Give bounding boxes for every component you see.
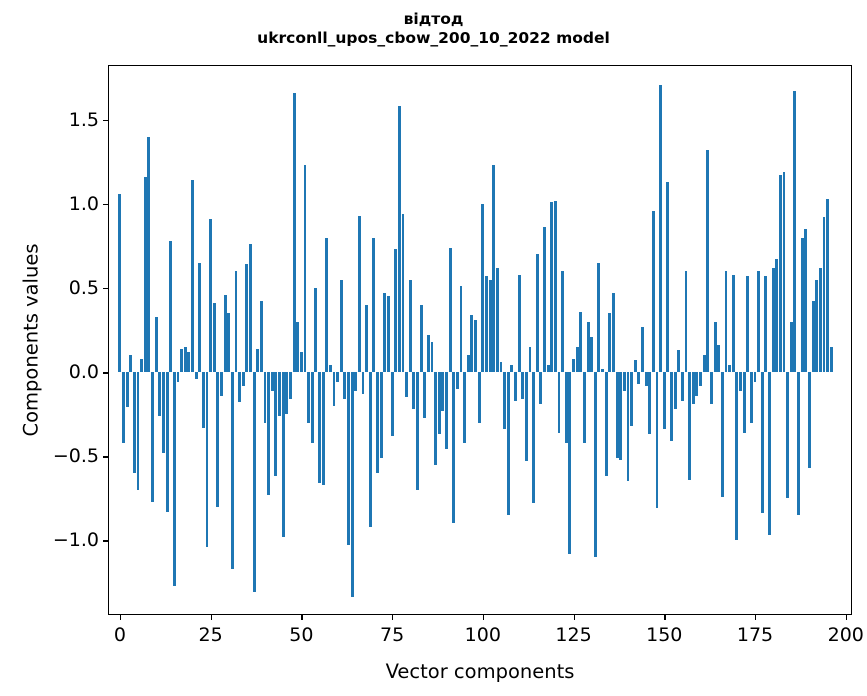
x-tick-mark (664, 614, 665, 620)
bar (514, 372, 517, 401)
bar (597, 263, 600, 372)
y-tick-label: −1.0 (53, 529, 99, 551)
bar (594, 372, 597, 557)
bar (721, 372, 724, 496)
bar (391, 372, 394, 436)
bar (525, 372, 528, 461)
bar (583, 372, 586, 443)
y-tick-mark (103, 204, 109, 205)
bar (793, 91, 796, 372)
bar (267, 372, 270, 495)
bar (797, 372, 800, 515)
bar (663, 372, 666, 429)
bar (670, 372, 673, 441)
bar-series (109, 66, 851, 614)
bar (278, 372, 281, 416)
bar (249, 244, 252, 372)
bar (786, 372, 789, 498)
x-tick-mark (846, 614, 847, 620)
bar (518, 275, 521, 373)
bar (398, 106, 401, 372)
bar (304, 165, 307, 372)
bar (826, 199, 829, 372)
bar (783, 172, 786, 372)
bar (202, 372, 205, 428)
bar (790, 322, 793, 372)
y-tick-label: 0.5 (69, 277, 99, 299)
bar (133, 372, 136, 473)
y-axis-label-container: Components values (18, 65, 44, 615)
bar (227, 313, 230, 372)
bar (184, 347, 187, 372)
x-tick-mark (483, 614, 484, 620)
bar (652, 211, 655, 372)
figure-canvas: відтод ukrconll_upos_cbow_200_10_2022 mo… (0, 0, 867, 696)
bar (177, 372, 180, 382)
bar (659, 85, 662, 373)
bar (764, 276, 767, 372)
bar (677, 350, 680, 372)
bar (503, 372, 506, 429)
bar (253, 372, 256, 592)
bar (285, 372, 288, 414)
bar (743, 372, 746, 433)
bar (354, 372, 357, 391)
bar (242, 372, 245, 385)
bar (420, 305, 423, 372)
bar (543, 227, 546, 372)
x-tick-mark (120, 614, 121, 620)
bar (365, 305, 368, 372)
bar (300, 352, 303, 372)
bar (692, 372, 695, 404)
bar (619, 372, 622, 459)
bar (198, 263, 201, 372)
bar (140, 359, 143, 372)
bar (260, 301, 263, 372)
chart-title-line1: відтод (0, 10, 867, 29)
bar (699, 372, 702, 385)
bar (441, 372, 444, 411)
bar (532, 372, 535, 503)
bar (155, 317, 158, 373)
bar (423, 372, 426, 417)
bar (216, 372, 219, 507)
y-tick-label: 0.0 (69, 361, 99, 383)
y-tick-label: −0.5 (53, 445, 99, 467)
bar (710, 372, 713, 404)
bar (754, 372, 757, 382)
bar (830, 347, 833, 372)
bar (587, 322, 590, 372)
bar (703, 355, 706, 372)
bar (470, 315, 473, 372)
bar (561, 271, 564, 372)
bar (220, 372, 223, 396)
bar (823, 217, 826, 372)
bar (387, 296, 390, 372)
bar (187, 352, 190, 372)
bar (452, 372, 455, 523)
bar (271, 372, 274, 391)
bar (804, 229, 807, 372)
x-tick-label: 50 (289, 624, 313, 646)
bar (801, 238, 804, 373)
bar (122, 372, 125, 443)
bar (529, 347, 532, 372)
bar (147, 137, 150, 372)
bar (739, 372, 742, 391)
bar (674, 372, 677, 409)
bar (166, 372, 169, 512)
bar (656, 372, 659, 508)
bar (717, 345, 720, 372)
bar (180, 349, 183, 373)
bar (641, 327, 644, 372)
bar (231, 372, 234, 569)
x-tick-mark (211, 614, 212, 620)
bar (474, 320, 477, 372)
bar (289, 372, 292, 399)
bar (362, 372, 365, 394)
bar (238, 372, 241, 402)
bar (340, 280, 343, 373)
bar (169, 241, 172, 372)
x-tick-label: 175 (737, 624, 773, 646)
bar (456, 372, 459, 389)
bar (256, 349, 259, 373)
bar (274, 372, 277, 476)
bar (735, 372, 738, 540)
bar (206, 372, 209, 547)
bar (547, 365, 550, 372)
bar (608, 313, 611, 372)
bar (376, 372, 379, 473)
bar (478, 372, 481, 422)
bar (431, 342, 434, 372)
bar (333, 372, 336, 406)
bar (605, 372, 608, 476)
bar (554, 201, 557, 373)
bar (282, 372, 285, 537)
bar (347, 372, 350, 545)
x-tick-label: 200 (828, 624, 864, 646)
bar (394, 249, 397, 372)
bar (463, 372, 466, 443)
bar (685, 271, 688, 372)
bar (590, 337, 593, 372)
x-tick-mark (392, 614, 393, 620)
bar (572, 359, 575, 372)
plot-axes: −1.0−0.50.00.51.01.5 0255075100125150175… (108, 65, 852, 615)
bar (118, 194, 121, 372)
bar (489, 280, 492, 373)
bar (819, 268, 822, 372)
bar (481, 204, 484, 372)
bar (500, 362, 503, 372)
bar (768, 372, 771, 535)
bar (536, 254, 539, 372)
bar (630, 372, 633, 426)
x-tick-mark (755, 614, 756, 620)
bar (467, 355, 470, 372)
bar (645, 372, 648, 385)
bar (772, 268, 775, 372)
bar (637, 372, 640, 384)
bar (568, 372, 571, 554)
bar (761, 372, 764, 513)
bar (191, 180, 194, 372)
bar (329, 365, 332, 372)
bar (314, 288, 317, 372)
bar (492, 165, 495, 372)
x-tick-mark (574, 614, 575, 620)
bar (627, 372, 630, 481)
bar (213, 303, 216, 372)
x-tick-label: 125 (555, 624, 591, 646)
bar (779, 175, 782, 372)
bar (746, 276, 749, 372)
bar (688, 372, 691, 480)
bar (402, 214, 405, 372)
bar (601, 369, 604, 372)
bar (336, 372, 339, 382)
bar (445, 372, 448, 449)
bar (427, 335, 430, 372)
bar (550, 202, 553, 372)
bar (126, 372, 129, 407)
bar (695, 372, 698, 396)
bar (757, 271, 760, 372)
bar (565, 372, 568, 443)
bar (434, 372, 437, 465)
bar (808, 372, 811, 468)
bar (162, 372, 165, 453)
bar (579, 312, 582, 373)
y-tick-mark (103, 288, 109, 289)
y-tick-mark (103, 372, 109, 373)
bar (714, 322, 717, 372)
x-tick-mark (301, 614, 302, 620)
bar (634, 360, 637, 372)
bar (209, 219, 212, 372)
bar (358, 216, 361, 372)
y-tick-mark (103, 456, 109, 457)
bar (322, 372, 325, 485)
bar (521, 372, 524, 399)
bar (405, 372, 408, 397)
bar (507, 372, 510, 515)
bar (612, 293, 615, 372)
bar (372, 238, 375, 373)
chart-title: відтод ukrconll_upos_cbow_200_10_2022 mo… (0, 10, 867, 48)
bar (460, 286, 463, 372)
bar (438, 372, 441, 434)
y-axis-label: Components values (20, 244, 43, 437)
bar (318, 372, 321, 483)
bar (666, 182, 669, 372)
bar (158, 372, 161, 416)
bar (351, 372, 354, 597)
x-tick-label: 0 (114, 624, 126, 646)
bar (510, 365, 513, 372)
bar (616, 372, 619, 458)
bar (383, 293, 386, 372)
bar (409, 280, 412, 373)
bar (144, 177, 147, 372)
bar (496, 268, 499, 372)
x-tick-label: 75 (380, 624, 404, 646)
bar (293, 93, 296, 372)
bar (706, 150, 709, 372)
bar (416, 372, 419, 490)
bar (485, 276, 488, 372)
bar (750, 372, 753, 422)
bar (235, 271, 238, 372)
bar (815, 280, 818, 373)
bar (224, 295, 227, 372)
y-tick-mark (103, 540, 109, 541)
bar (380, 372, 383, 458)
bar (681, 372, 684, 401)
bar (728, 365, 731, 372)
bar (369, 372, 372, 527)
bar (725, 271, 728, 372)
chart-title-line2: ukrconll_upos_cbow_200_10_2022 model (0, 29, 867, 48)
bar (449, 248, 452, 372)
bar (173, 372, 176, 586)
x-axis-label: Vector components (108, 660, 852, 683)
bar (732, 275, 735, 373)
bar (195, 372, 198, 379)
bar (129, 355, 132, 372)
bar (264, 372, 267, 422)
y-tick-mark (103, 120, 109, 121)
bar (137, 372, 140, 490)
bar (648, 372, 651, 434)
x-tick-label: 150 (646, 624, 682, 646)
bar (343, 372, 346, 399)
y-tick-label: 1.5 (69, 109, 99, 131)
bar (576, 347, 579, 372)
bar (623, 372, 626, 391)
bar (307, 372, 310, 422)
bar (296, 322, 299, 372)
x-tick-label: 25 (199, 624, 223, 646)
x-tick-label: 100 (465, 624, 501, 646)
bar (245, 264, 248, 372)
bar (151, 372, 154, 502)
y-tick-label: 1.0 (69, 193, 99, 215)
bar (812, 301, 815, 372)
bar (775, 259, 778, 372)
bar (558, 372, 561, 433)
bar (311, 372, 314, 443)
bar (325, 238, 328, 373)
bar (539, 372, 542, 404)
bar (412, 372, 415, 409)
